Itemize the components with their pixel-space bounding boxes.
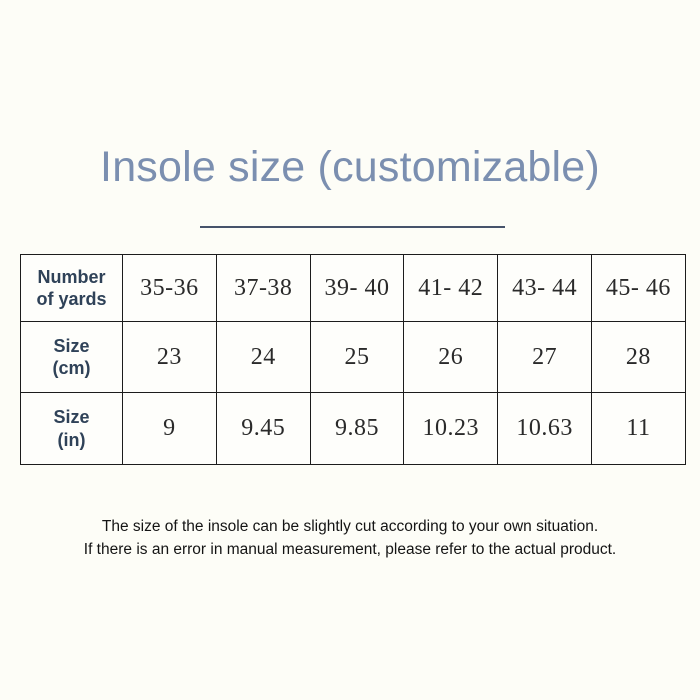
insole-size-table: Number of yards 35-36 37-38 39- 40 41- 4… [20, 254, 686, 465]
size-chart-page: Insole size (customizable) Number of yar… [0, 0, 700, 700]
footer-note: The size of the insole can be slightly c… [0, 515, 700, 562]
cell-in-1: 9 [123, 393, 217, 465]
footer-note-line1: The size of the insole can be slightly c… [0, 515, 700, 538]
cell-cm-1: 23 [123, 322, 217, 393]
page-title: Insole size (customizable) [0, 146, 700, 189]
cell-cm-3: 25 [310, 322, 404, 393]
cell-in-6: 11 [591, 393, 685, 465]
row-label-size-in: Size (in) [21, 393, 123, 465]
row-label-line2: (cm) [21, 357, 122, 380]
cell-cm-4: 26 [404, 322, 498, 393]
cell-yards-3: 39- 40 [310, 255, 404, 322]
row-label-line1: Number [37, 267, 105, 287]
cell-in-5: 10.63 [498, 393, 592, 465]
table-row-size-cm: Size (cm) 23 24 25 26 27 28 [21, 322, 686, 393]
cell-cm-5: 27 [498, 322, 592, 393]
cell-in-3: 9.85 [310, 393, 404, 465]
table-row-size-in: Size (in) 9 9.45 9.85 10.23 10.63 11 [21, 393, 686, 465]
row-label-number-of-yards: Number of yards [21, 255, 123, 322]
row-label-size-cm: Size (cm) [21, 322, 123, 393]
cell-cm-6: 28 [591, 322, 685, 393]
title-underline-divider [200, 226, 505, 228]
cell-yards-6: 45- 46 [591, 255, 685, 322]
cell-yards-2: 37-38 [216, 255, 310, 322]
cell-yards-4: 41- 42 [404, 255, 498, 322]
cell-yards-1: 35-36 [123, 255, 217, 322]
cell-yards-5: 43- 44 [498, 255, 592, 322]
footer-note-line2: If there is an error in manual measureme… [0, 538, 700, 561]
cell-in-2: 9.45 [216, 393, 310, 465]
row-label-line1: Size [53, 336, 89, 356]
row-label-line2: (in) [21, 429, 122, 452]
table-row-number-of-yards: Number of yards 35-36 37-38 39- 40 41- 4… [21, 255, 686, 322]
row-label-line1: Size [53, 407, 89, 427]
cell-cm-2: 24 [216, 322, 310, 393]
row-label-line2: of yards [21, 288, 122, 311]
cell-in-4: 10.23 [404, 393, 498, 465]
